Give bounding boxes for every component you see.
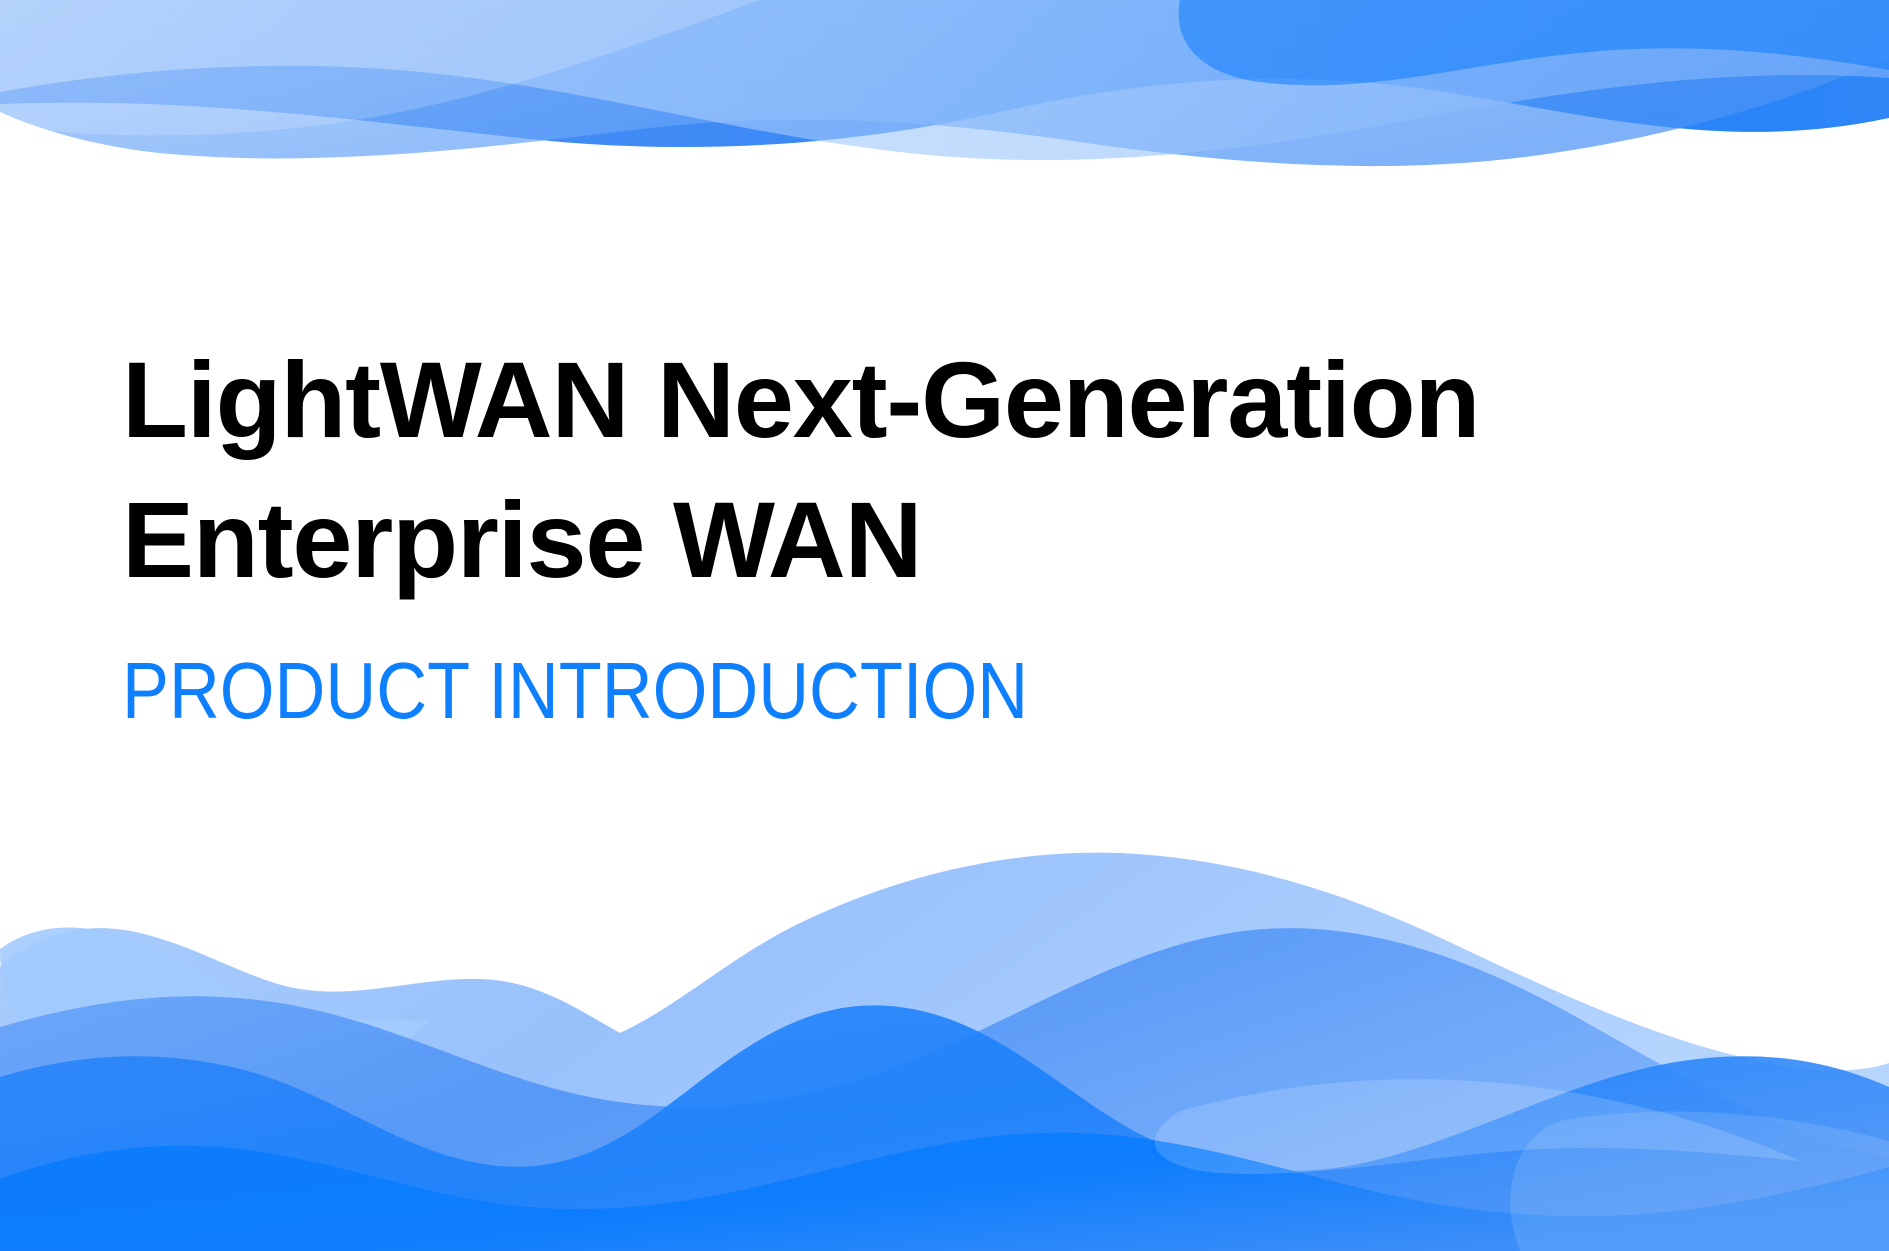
title-block: LightWAN Next-Generation Enterprise WAN … — [122, 330, 1762, 731]
title-slide: LightWAN Next-Generation Enterprise WAN … — [0, 0, 1889, 1251]
page-title: LightWAN Next-Generation Enterprise WAN — [122, 330, 1762, 611]
page-subtitle: PRODUCT INTRODUCTION — [122, 611, 1565, 731]
blue-wave-banner-bottom — [0, 781, 1889, 1251]
blue-wave-banner-top — [0, 0, 1889, 190]
